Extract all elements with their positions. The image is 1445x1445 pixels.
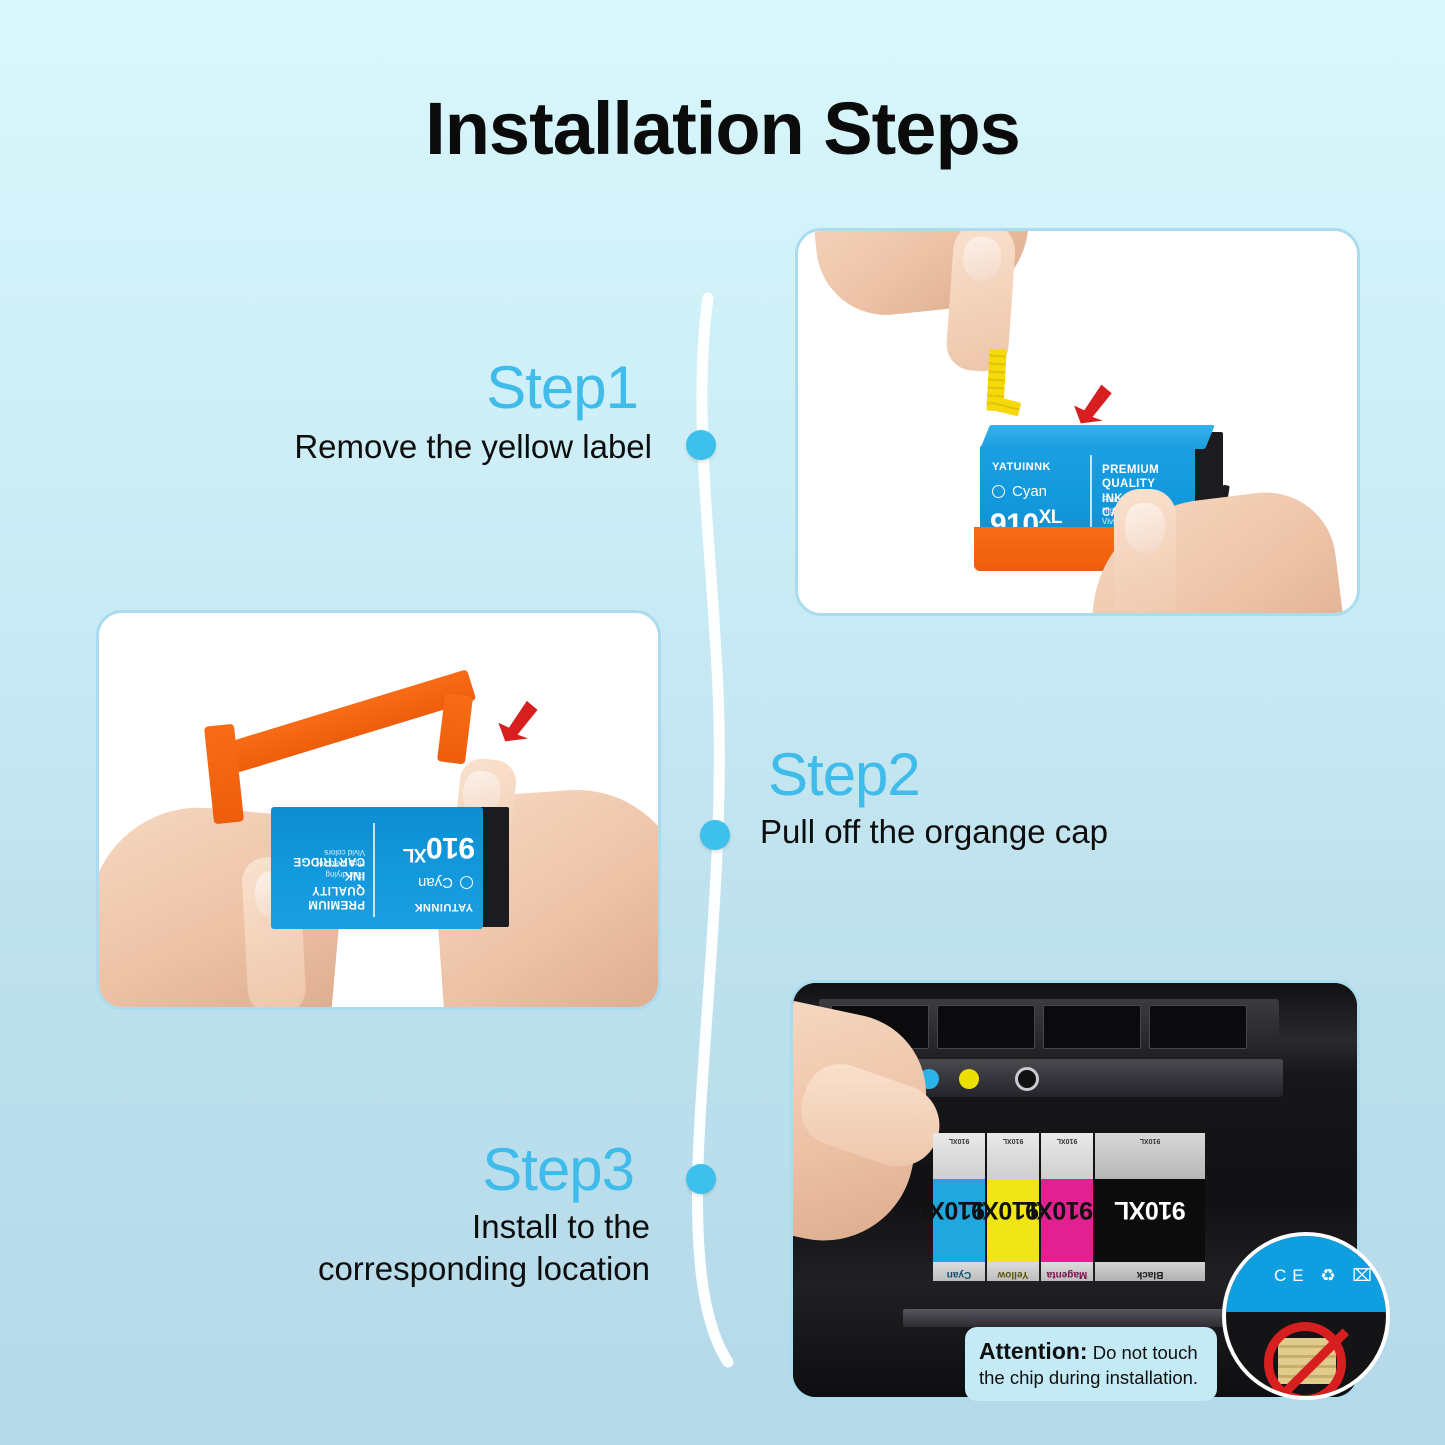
cartridge-color-name: Cyan (933, 1269, 985, 1280)
cartridge-color-dot-icon (992, 485, 1005, 498)
cartridge-color-band: Magenta (1041, 1262, 1093, 1281)
printer-slot-3 (1043, 1005, 1141, 1049)
step-3-label: Step3 (60, 1140, 634, 1200)
cartridge-model: 910XL (1095, 1195, 1205, 1224)
cartridge-divider (374, 823, 376, 917)
cartridge-color-dot-icon (460, 876, 473, 889)
cartridge-brand: YATUINNK (414, 901, 473, 913)
step-2-text-block: Step2 Pull off the organge cap (760, 745, 1360, 853)
do-not-touch-chip-inset: CE ♻ ⌧ (1222, 1232, 1390, 1400)
cartridge-body: 910XL (1041, 1179, 1093, 1262)
ink-indicator-black (1015, 1067, 1039, 1091)
cartridge-top-text: 910XL (987, 1137, 1039, 1144)
step-2-description: Pull off the organge cap (760, 811, 1360, 853)
cartridge-model: 910XL (1041, 1195, 1093, 1224)
cartridge-color-name: Cyan (1012, 483, 1047, 500)
cartridge-top-label: 910XL (1095, 1133, 1205, 1179)
cartridge-top-label: 910XL (987, 1133, 1039, 1179)
page-title: Installation Steps (0, 86, 1445, 171)
ink-cartridge-step-2: YATUINNK Cyan 910XL PREMIUM QUALITYINK C… (241, 765, 501, 935)
cartridge-color-name: Magenta (1041, 1269, 1093, 1280)
step-marker-dot-3 (686, 1164, 716, 1194)
cartridge-color-band: Cyan (933, 1262, 985, 1281)
cartridge-model: 910XL (403, 830, 475, 865)
no-touch-prohibition-icon (1264, 1322, 1346, 1400)
cartridge-body: 910XL (1095, 1179, 1205, 1262)
cartridge-color-name: Yellow (987, 1269, 1039, 1280)
printer-cartridge-magenta: 910XL 910XL Magenta (1041, 1133, 1093, 1281)
step-2-label: Step2 (768, 745, 1360, 805)
step-2-photo-panel: YATUINNK Cyan 910XL PREMIUM QUALITYINK C… (96, 610, 661, 1010)
step-1-description: Remove the yellow label (40, 426, 652, 468)
cartridge-brand: YATUINNK (992, 461, 1051, 473)
step-1-photo-panel: YATUINNK Cyan 910XL PREMIUM QUALITYINK C… (795, 228, 1360, 616)
printer-lower-shelf (903, 1309, 1233, 1327)
step-1-text-block: Step1 Remove the yellow label (40, 358, 652, 468)
step-3-text-block: Step3 Install to the corresponding locat… (60, 1140, 650, 1290)
cartridge-fine-print: Fast drying High yield ink Vivid colors (279, 847, 365, 879)
step-1-label: Step1 (40, 358, 638, 418)
cartridge-top-label: 910XL (933, 1133, 985, 1179)
certification-icons: CE ♻ ⌧ (1274, 1266, 1378, 1286)
attention-callout: Attention: Do not touch the chip during … (965, 1327, 1217, 1401)
cartridge-color-name: Black (1095, 1269, 1205, 1280)
cartridge-top-label: 910XL (1041, 1133, 1093, 1179)
printer-slot-2 (937, 1005, 1035, 1049)
printer-slot-4 (1149, 1005, 1247, 1049)
cartridge-top-text: 910XL (1041, 1137, 1093, 1144)
printer-cartridge-black: 910XL 910XL Black (1095, 1133, 1205, 1281)
ink-indicator-yellow (959, 1069, 979, 1089)
cartridge-color-band: Black (1095, 1262, 1205, 1281)
cartridge-color-name: Cyan (418, 874, 453, 891)
step-marker-dot-1 (686, 430, 716, 460)
attention-lead: Attention: (979, 1338, 1088, 1364)
step-3-description: Install to the corresponding location (60, 1206, 650, 1290)
fingernail-bottom (1125, 503, 1165, 553)
step-marker-dot-2 (700, 820, 730, 850)
red-arrow-icon (494, 695, 540, 743)
cartridge-color-band: Yellow (987, 1262, 1039, 1281)
cartridge-top-text: 910XL (933, 1137, 985, 1144)
cartridge-top-text: 910XL (1095, 1137, 1205, 1144)
